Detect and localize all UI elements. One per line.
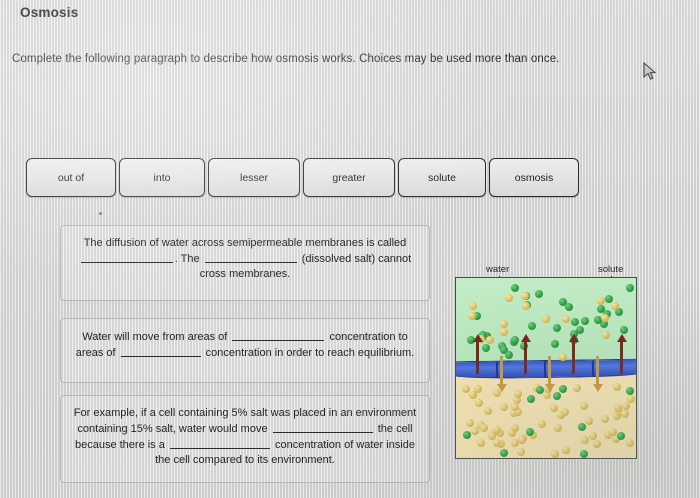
solute-particle: [622, 402, 630, 410]
solute-particle: [505, 294, 513, 302]
solute-particle: [551, 450, 559, 458]
answer-blank-2[interactable]: [205, 251, 297, 263]
diagram-label-solute: solute: [598, 264, 623, 275]
water-molecule: [617, 432, 625, 440]
solute-particle: [626, 439, 634, 447]
solute-particle: [514, 390, 522, 398]
solute-particle: [462, 385, 470, 393]
water-molecule: [576, 326, 584, 334]
water-molecule: [482, 344, 490, 352]
water-flow-arrow-up: [572, 340, 575, 374]
solute-flow-arrow-down: [548, 356, 551, 386]
solute-particle: [621, 410, 629, 418]
choice-label: out of: [58, 172, 84, 184]
answer-blank-4[interactable]: [121, 345, 201, 357]
solute-particle: [538, 420, 546, 428]
quiz-screen: Osmosis Complete the following paragraph…: [0, 0, 700, 498]
choice-label: into: [154, 172, 171, 184]
water-flow-arrow-up: [476, 340, 479, 374]
solute-particle: [475, 399, 483, 407]
water-molecule: [505, 351, 513, 359]
water-molecule: [580, 450, 588, 458]
answer-blank-1[interactable]: [81, 251, 173, 263]
water-flow-arrow-up: [524, 340, 527, 374]
solute-particle: [500, 320, 508, 328]
water-molecule: [565, 303, 573, 311]
solute-particle: [550, 404, 558, 412]
water-molecule: [511, 284, 519, 292]
instruction-text: Complete the following paragraph to desc…: [12, 53, 559, 65]
solute-particle: [480, 424, 488, 432]
paragraph-2-text-c: concentration in order to reach equilibr…: [206, 347, 415, 359]
water-molecule: [527, 395, 535, 403]
paragraph-1-text-a: The diffusion of water across semipermea…: [84, 237, 407, 249]
solute-particle: [474, 385, 482, 393]
solute-flow-arrow-down: [596, 356, 599, 386]
solute-particle: [517, 448, 525, 456]
paragraph-1-text-b: . The: [175, 253, 200, 265]
answer-blank-3[interactable]: [232, 329, 324, 341]
solute-particle: [613, 383, 621, 391]
water-molecule: [463, 431, 471, 439]
choice-label: osmosis: [515, 172, 554, 184]
paragraph-2-text-a: Water will move from areas of: [82, 331, 227, 343]
choice-bank: out of into lesser greater solute osmosi…: [26, 158, 579, 197]
water-molecule: [511, 336, 519, 344]
solute-particle: [614, 404, 622, 412]
choice-button-lesser[interactable]: lesser: [208, 158, 300, 197]
choice-label: lesser: [240, 172, 268, 184]
mouse-pointer-icon: [643, 62, 657, 81]
water-molecule: [551, 340, 559, 348]
solute-flow-arrow-down: [500, 356, 503, 386]
choice-label: greater: [332, 172, 365, 184]
solute-particle: [542, 315, 550, 323]
page-title: Osmosis: [20, 5, 78, 20]
choice-button-greater[interactable]: greater: [303, 158, 395, 197]
paragraph-box-1: The diffusion of water across semipermea…: [60, 225, 430, 301]
solute-particle: [477, 439, 485, 447]
solute-particle: [468, 312, 476, 320]
solute-particle: [511, 403, 519, 411]
solute-particle: [500, 403, 508, 411]
water-molecule: [605, 295, 613, 303]
water-flow-arrow-up: [620, 340, 623, 374]
paragraph-box-3: For example, if a cell containing 5% sal…: [60, 395, 430, 483]
screen-speck: [99, 212, 102, 215]
semipermeable-membrane: [455, 359, 637, 380]
choice-label: solute: [428, 172, 456, 184]
diagram-label-water: water: [486, 264, 509, 275]
choice-button-solute[interactable]: solute: [398, 158, 486, 197]
water-molecule: [553, 324, 561, 332]
water-molecule: [626, 284, 634, 292]
solute-particle: [561, 408, 569, 416]
solute-particle: [581, 436, 589, 444]
osmosis-diagram: [455, 277, 637, 459]
solute-particle: [486, 336, 494, 344]
water-molecule: [559, 385, 567, 393]
water-molecule: [553, 392, 561, 400]
answer-blank-5[interactable]: [273, 421, 373, 433]
water-molecule: [535, 290, 543, 298]
choice-button-out-of[interactable]: out of: [26, 158, 116, 197]
choice-button-into[interactable]: into: [119, 158, 205, 197]
answer-blank-6[interactable]: [170, 437, 270, 449]
choice-button-osmosis[interactable]: osmosis: [489, 158, 579, 197]
paragraph-box-2: Water will move from areas of concentrat…: [60, 318, 430, 383]
